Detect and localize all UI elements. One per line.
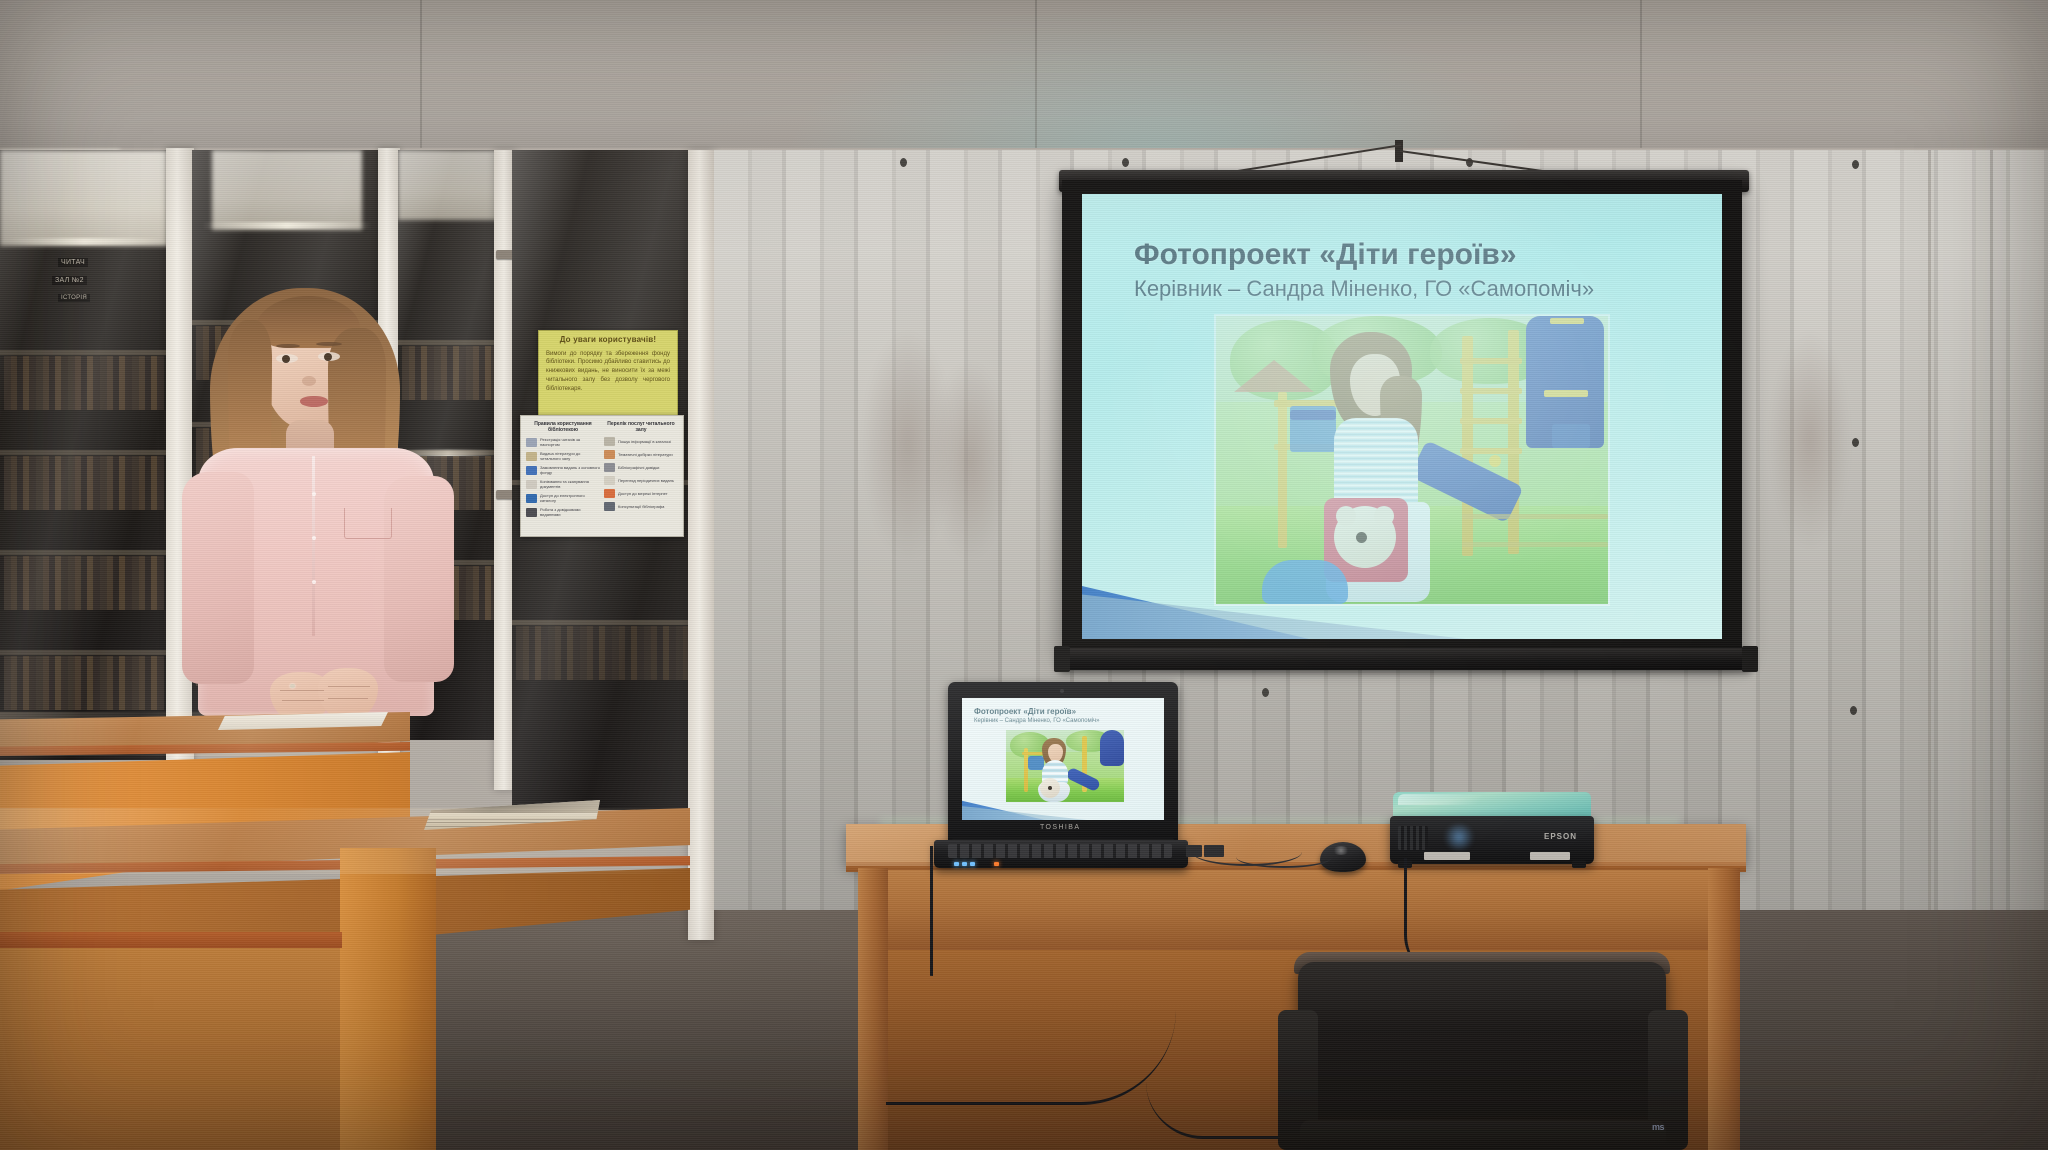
laptop-lid[interactable]: Фотопроект «Діти героїв» Керівник – Санд… (948, 682, 1178, 844)
webcam-icon (1060, 689, 1064, 693)
projector-brand-label: EPSON (1544, 832, 1577, 841)
presenter-nose (302, 376, 316, 386)
laptop-slide-title: Фотопроект «Діти героїв» (974, 707, 1076, 716)
notice-icon (604, 463, 615, 472)
presenter-mouth (300, 396, 328, 407)
notice-icon (604, 450, 615, 459)
notice-row-text: Робота з довідковими виданнями (540, 507, 600, 517)
presenter-blouse-pocket (344, 508, 392, 539)
presenter-brow-left (276, 344, 300, 348)
mouse-cable (1236, 846, 1332, 868)
notice-row-text: Доступ до електронного каталогу (540, 493, 600, 503)
projector-body[interactable]: EPSON (1390, 816, 1594, 864)
notice-icon (604, 437, 615, 446)
notice-icon (526, 452, 537, 461)
blinds-silhouette (1770, 330, 1850, 550)
wall-screw (1122, 158, 1129, 167)
laptop-keyboard[interactable] (948, 844, 1172, 858)
notice-row-text: Копіювання та сканування документів (540, 479, 600, 489)
screen-endcap (1054, 646, 1070, 672)
presenter-sleeve-left (182, 472, 254, 684)
wall-screw (1850, 706, 1857, 715)
notice-row-text: Бібліографічні довідки (618, 465, 678, 470)
presenter-eye-right (324, 353, 332, 361)
projector-top-sheen (1398, 794, 1548, 805)
notice-yellow: До уваги користувачів! Вимоги до порядку… (538, 330, 678, 420)
lectern-lower-edge (0, 932, 342, 948)
notice-icon (526, 508, 537, 517)
laptop-brand-label: TOSHIBA (1040, 824, 1080, 831)
screen-endcap (1742, 646, 1758, 672)
notice-icon (526, 480, 537, 489)
notice-row-text: Доступ до мережі Інтернет (618, 491, 678, 496)
notice-column-left: Правила користування бібліотекою Реєстра… (526, 421, 600, 531)
slide-photo (1216, 316, 1608, 604)
room-photo-scene: ЧИТАЧ ЗАЛ №2 ІСТОРІЯ (0, 0, 2048, 1150)
projection-screen[interactable]: Фотопроект «Діти героїв» Керівник – Санд… (1062, 180, 1742, 655)
notice-row-text: Пошук інформації в каталозі (618, 439, 678, 444)
notice-column-right: Перелік послуг читального залу Пошук інф… (604, 421, 678, 531)
notice-row-text: Перегляд періодичних видань (618, 478, 678, 483)
notice-row-text: Тематичні добірки літератури (618, 452, 678, 457)
laptop-slide-photo (1006, 730, 1124, 802)
laptop-power-led (994, 862, 999, 866)
notice-yellow-body: Вимоги до порядку та збереження фонду бі… (546, 350, 670, 393)
screen-weight-bar (1058, 648, 1752, 670)
lectern-lower-panel (0, 940, 340, 1150)
slide-title: Фотопроект «Діти героїв» (1134, 238, 1517, 272)
notice-row-text: Консультації бібліографа (618, 504, 678, 509)
laptop-slide-subtitle: Керівник – Сандра Міненко, ГО «Самопоміч… (974, 718, 1100, 724)
presenter-sleeve-right (384, 476, 454, 682)
projector-foot (1572, 860, 1586, 868)
notice-row-text: Реєстрація читачів за паспортом (540, 437, 600, 447)
presenter-finger-line (280, 690, 324, 691)
projector-lens (1442, 824, 1476, 850)
wall-screw (1262, 688, 1269, 697)
notice-left-heading: Правила користування бібліотекою (526, 421, 600, 433)
notice-icon (604, 489, 615, 498)
lectern-pedestal (340, 848, 436, 1150)
projector-vent (1398, 826, 1428, 850)
mouse-highlight (1332, 846, 1350, 855)
blinds-silhouette (930, 360, 1010, 560)
presenter-hand-right (318, 668, 378, 718)
notice-icon (604, 502, 615, 511)
laptop-screen: Фотопроект «Діти героїв» Керівник – Санд… (962, 698, 1164, 820)
presenter-finger-line (328, 698, 368, 699)
notice-yellow-title: До уваги користувачів! (546, 336, 670, 345)
chair-brand-tag: ms (1652, 1122, 1664, 1132)
notice-icon (526, 466, 537, 475)
wall-panel-joint (1928, 150, 1931, 910)
presenter-finger-line (282, 700, 324, 701)
notice-right-heading: Перелік послуг читального залу (604, 421, 678, 433)
chair-seat[interactable] (1300, 1120, 1666, 1150)
ceiling-seam (1035, 0, 1037, 150)
table-apron (860, 870, 1732, 950)
ceiling-projector-glow (780, 0, 1540, 150)
table-leg-right (1708, 868, 1740, 1150)
wall-screw (1852, 160, 1859, 169)
presenter-blouse-placket (312, 456, 315, 636)
screen-surface: Фотопроект «Діти героїв» Керівник – Санд… (1082, 194, 1722, 639)
laptop-led (954, 862, 959, 866)
slide: Фотопроект «Діти героїв» Керівник – Санд… (1082, 194, 1722, 639)
presenter-button (312, 580, 316, 584)
wall-screw (1852, 438, 1859, 447)
ceiling-seam (1640, 0, 1642, 150)
notice-icon (526, 494, 537, 503)
presenter-brow-right (316, 342, 342, 346)
door-frame-right (688, 150, 714, 940)
wall-screw (900, 158, 907, 167)
laptop-slide: Фотопроект «Діти героїв» Керівник – Санд… (962, 698, 1164, 820)
presenter-button (312, 492, 316, 496)
presenter-button (312, 536, 316, 540)
bookcase-left: ЧИТАЧ ЗАЛ №2 ІСТОРІЯ (0, 150, 168, 760)
wall-panel-joint (1990, 150, 1993, 910)
notice-row-text: Замовлення видань з основного фонду (540, 465, 600, 475)
notice-icon (526, 438, 537, 447)
slide-subtitle: Керівник – Сандра Міненко, ГО «Самопоміч… (1134, 276, 1594, 302)
notice-white: Правила користування бібліотекою Реєстра… (520, 415, 684, 537)
ceiling-seam (420, 0, 422, 150)
laptop-led (962, 862, 967, 866)
notice-icon (604, 476, 615, 485)
presenter-ring (290, 684, 295, 688)
presenter (160, 280, 490, 750)
presenter-eye-left (282, 355, 290, 363)
notice-row-text: Видача літератури до читального залу (540, 451, 600, 461)
projector-plate (1530, 852, 1570, 860)
laptop-led (970, 862, 975, 866)
presenter-finger-line (328, 686, 370, 687)
